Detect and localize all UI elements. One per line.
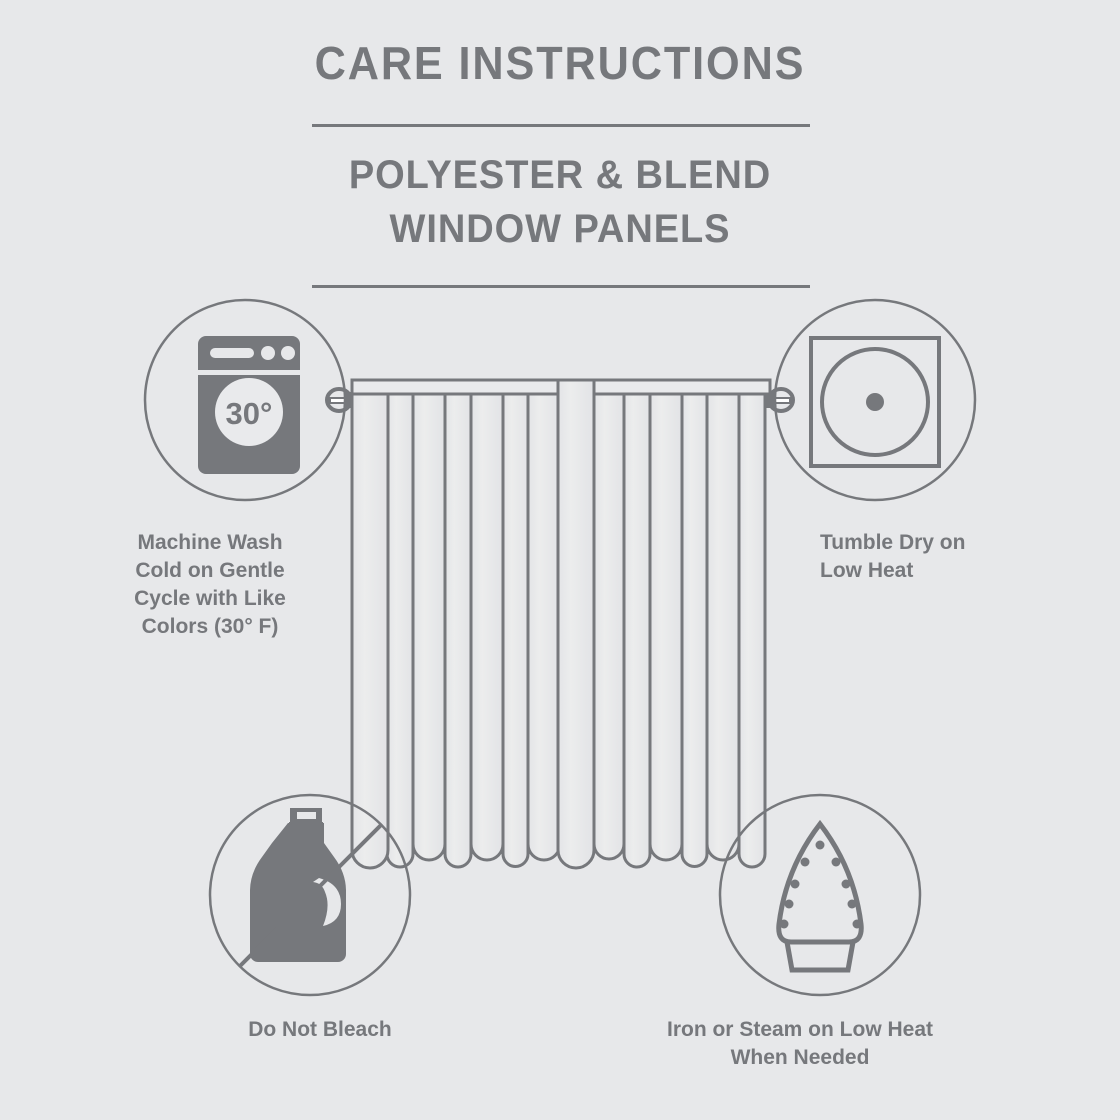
care-instructions-infographic: CARE INSTRUCTIONS POLYESTER & BLENDWINDO…: [0, 0, 1120, 1120]
caption-machine-wash: Machine Wash Cold on Gentle Cycle with L…: [70, 529, 350, 641]
caption-line: When Needed: [731, 1046, 870, 1069]
caption-tumble-dry: Tumble Dry on Low Heat: [820, 529, 1070, 585]
caption-line: Machine Wash: [137, 531, 282, 554]
caption-do-not-bleach: Do Not Bleach: [180, 1016, 460, 1044]
caption-iron: Iron or Steam on Low Heat When Needed: [600, 1016, 1000, 1072]
caption-line: Do Not Bleach: [248, 1018, 392, 1041]
caption-line: Low Heat: [820, 559, 913, 582]
caption-line: Colors (30° F): [142, 615, 279, 638]
caption-line: Tumble Dry on: [820, 531, 965, 554]
iron-low-heat-icon: [779, 824, 862, 970]
caption-line: Iron or Steam on Low Heat: [667, 1018, 933, 1041]
caption-line: Cycle with Like: [134, 587, 286, 610]
caption-line: Cold on Gentle: [135, 559, 284, 582]
